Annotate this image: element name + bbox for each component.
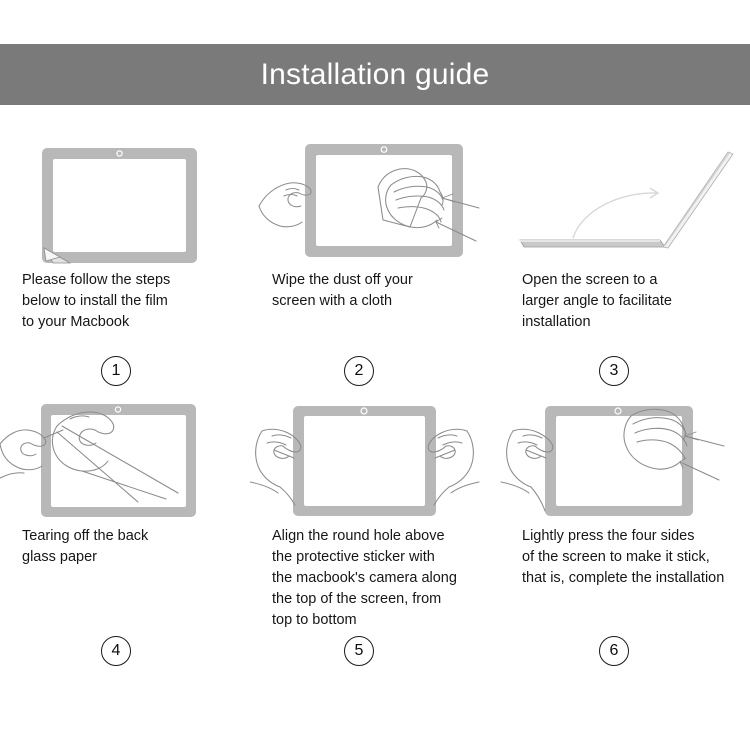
- step-3-line-2: larger angle to facilitate: [522, 291, 742, 312]
- step-6-line-1: Lightly press the four sides: [522, 526, 742, 547]
- step-4: Tearing off the back glass paper 4: [0, 386, 250, 666]
- step-2-line-2: screen with a cloth: [272, 291, 492, 312]
- step-4-line-2: glass paper: [22, 547, 242, 568]
- step-4-line-1: Tearing off the back: [22, 526, 242, 547]
- step-6-illustration: [500, 386, 750, 526]
- step-number-badge-1: 1: [101, 356, 131, 386]
- step-6-number-wrap: 6: [500, 636, 750, 666]
- step-5-text: Align the round hole above the protectiv…: [250, 526, 500, 636]
- step-number-badge-5: 5: [344, 636, 374, 666]
- step-4-text: Tearing off the back glass paper: [0, 526, 250, 636]
- step-2-number-wrap: 2: [250, 356, 500, 386]
- step-number-badge-4: 4: [101, 636, 131, 666]
- step-3-line-3: installation: [522, 312, 742, 333]
- header-bar: Installation guide: [0, 44, 750, 105]
- step-6: Lightly press the four sides of the scre…: [500, 386, 750, 666]
- step-3-illustration: [500, 130, 750, 270]
- step-2-illustration: [250, 130, 500, 270]
- tablet-with-peeling-film-corner-icon: [0, 130, 250, 270]
- step-5-line-2: the protective sticker with: [272, 547, 492, 568]
- step-1-illustration: [0, 130, 250, 270]
- step-6-line-3: that is, complete the installation: [522, 568, 742, 589]
- step-4-number-wrap: 4: [0, 636, 250, 666]
- step-1-line-3: to your Macbook: [22, 312, 242, 333]
- step-5-line-5: top to bottom: [272, 610, 492, 631]
- step-1: Please follow the steps below to install…: [0, 130, 250, 386]
- step-1-line-2: below to install the film: [22, 291, 242, 312]
- tablet-held-by-two-hands-icon: [250, 386, 500, 526]
- step-5-illustration: [250, 386, 500, 526]
- step-6-text: Lightly press the four sides of the scre…: [500, 526, 750, 636]
- step-3-text: Open the screen to a larger angle to fac…: [500, 270, 750, 356]
- tablet-wiped-with-cloth-icon: [250, 130, 500, 270]
- step-5-line-1: Align the round hole above: [272, 526, 492, 547]
- step-number-badge-6: 6: [599, 636, 629, 666]
- page-title: Installation guide: [261, 60, 490, 90]
- step-5-number-wrap: 5: [250, 636, 500, 666]
- step-3: Open the screen to a larger angle to fac…: [500, 130, 750, 386]
- step-3-number-wrap: 3: [500, 356, 750, 386]
- step-2-line-1: Wipe the dust off your: [272, 270, 492, 291]
- tablet-pressed-by-palm-icon: [500, 386, 750, 526]
- step-3-line-1: Open the screen to a: [522, 270, 742, 291]
- step-1-line-1: Please follow the steps: [22, 270, 242, 291]
- step-2: Wipe the dust off your screen with a clo…: [250, 130, 500, 386]
- tablet-tearing-back-paper-icon: [0, 386, 250, 526]
- step-1-text: Please follow the steps below to install…: [0, 270, 250, 356]
- step-5: Align the round hole above the protectiv…: [250, 386, 500, 666]
- step-1-number-wrap: 1: [0, 356, 250, 386]
- installation-steps-grid: Please follow the steps below to install…: [0, 130, 750, 666]
- step-5-line-4: the top of the screen, from: [272, 589, 492, 610]
- step-5-line-3: the macbook's camera along: [272, 568, 492, 589]
- step-number-badge-3: 3: [599, 356, 629, 386]
- step-4-illustration: [0, 386, 250, 526]
- laptop-side-view-opening-screen-icon: [500, 130, 750, 270]
- step-2-text: Wipe the dust off your screen with a clo…: [250, 270, 500, 356]
- step-6-line-2: of the screen to make it stick,: [522, 547, 742, 568]
- step-number-badge-2: 2: [344, 356, 374, 386]
